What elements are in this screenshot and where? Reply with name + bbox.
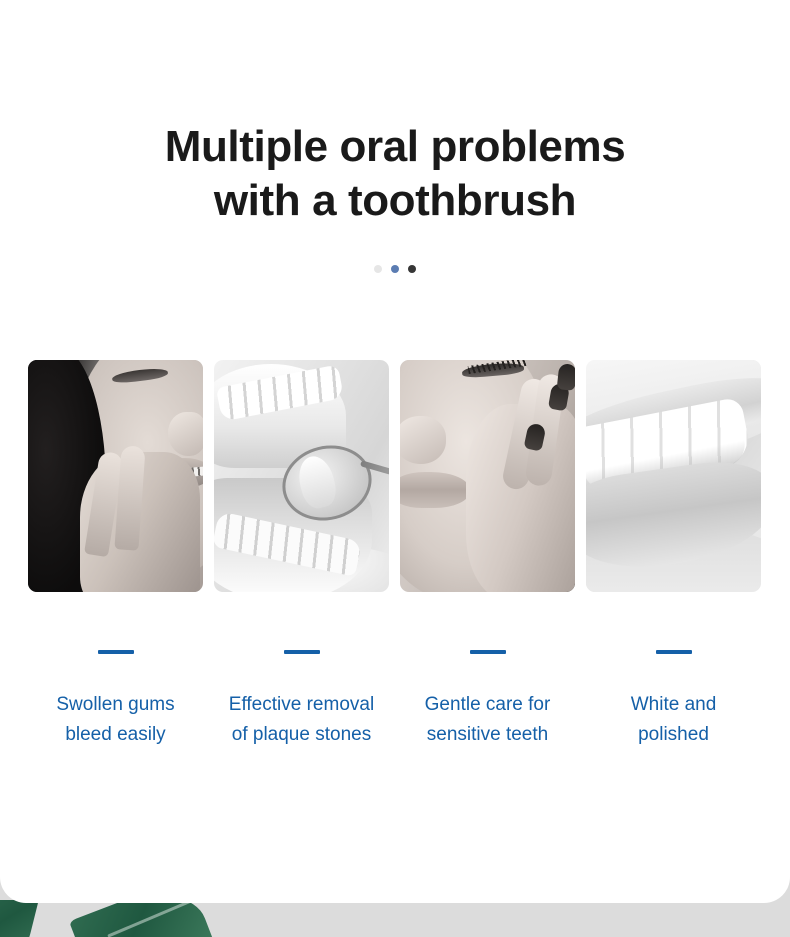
bottom-decorative-band (0, 900, 790, 937)
caption-text-1: Swollen gums bleed easily (28, 690, 203, 750)
carousel-dot-2[interactable] (391, 265, 399, 273)
caption-text-2: Effective removal of plaque stones (214, 690, 389, 750)
caption-dash-3 (470, 650, 506, 654)
feature-caption-row: Swollen gums bleed easily Effective remo… (28, 650, 762, 750)
caption-dash-2 (284, 650, 320, 654)
carousel-dot-1[interactable] (374, 265, 382, 273)
feature-image-3 (400, 360, 575, 592)
content-card: Multiple oral problems with a toothbrush (0, 0, 790, 903)
caption-text-4: White and polished (586, 690, 761, 750)
feature-caption-3: Gentle care for sensitive teeth (400, 650, 575, 750)
page-title-line-2: with a toothbrush (0, 174, 790, 228)
feature-image-1 (28, 360, 203, 592)
feature-caption-1: Swollen gums bleed easily (28, 650, 203, 750)
leaf-decoration-2 (69, 900, 215, 937)
feature-image-2 (214, 360, 389, 592)
caption-dash-4 (656, 650, 692, 654)
feature-caption-4: White and polished (586, 650, 761, 750)
feature-image-row (28, 360, 762, 592)
carousel-dot-3[interactable] (408, 265, 416, 273)
page-title-line-1: Multiple oral problems (0, 120, 790, 174)
feature-image-4 (586, 360, 761, 592)
photo-woman-sensitive-teeth (400, 360, 575, 592)
photo-woman-holding-cheek (28, 360, 203, 592)
caption-text-3: Gentle care for sensitive teeth (400, 690, 575, 750)
product-detail-page: Multiple oral problems with a toothbrush (0, 0, 790, 937)
page-title: Multiple oral problems with a toothbrush (0, 120, 790, 228)
photo-white-teeth-smile (586, 360, 761, 592)
photo-dental-model-mirror (214, 360, 389, 592)
feature-caption-2: Effective removal of plaque stones (214, 650, 389, 750)
caption-dash-1 (98, 650, 134, 654)
leaf-decoration-1 (0, 900, 39, 937)
carousel-dots[interactable] (0, 265, 790, 273)
